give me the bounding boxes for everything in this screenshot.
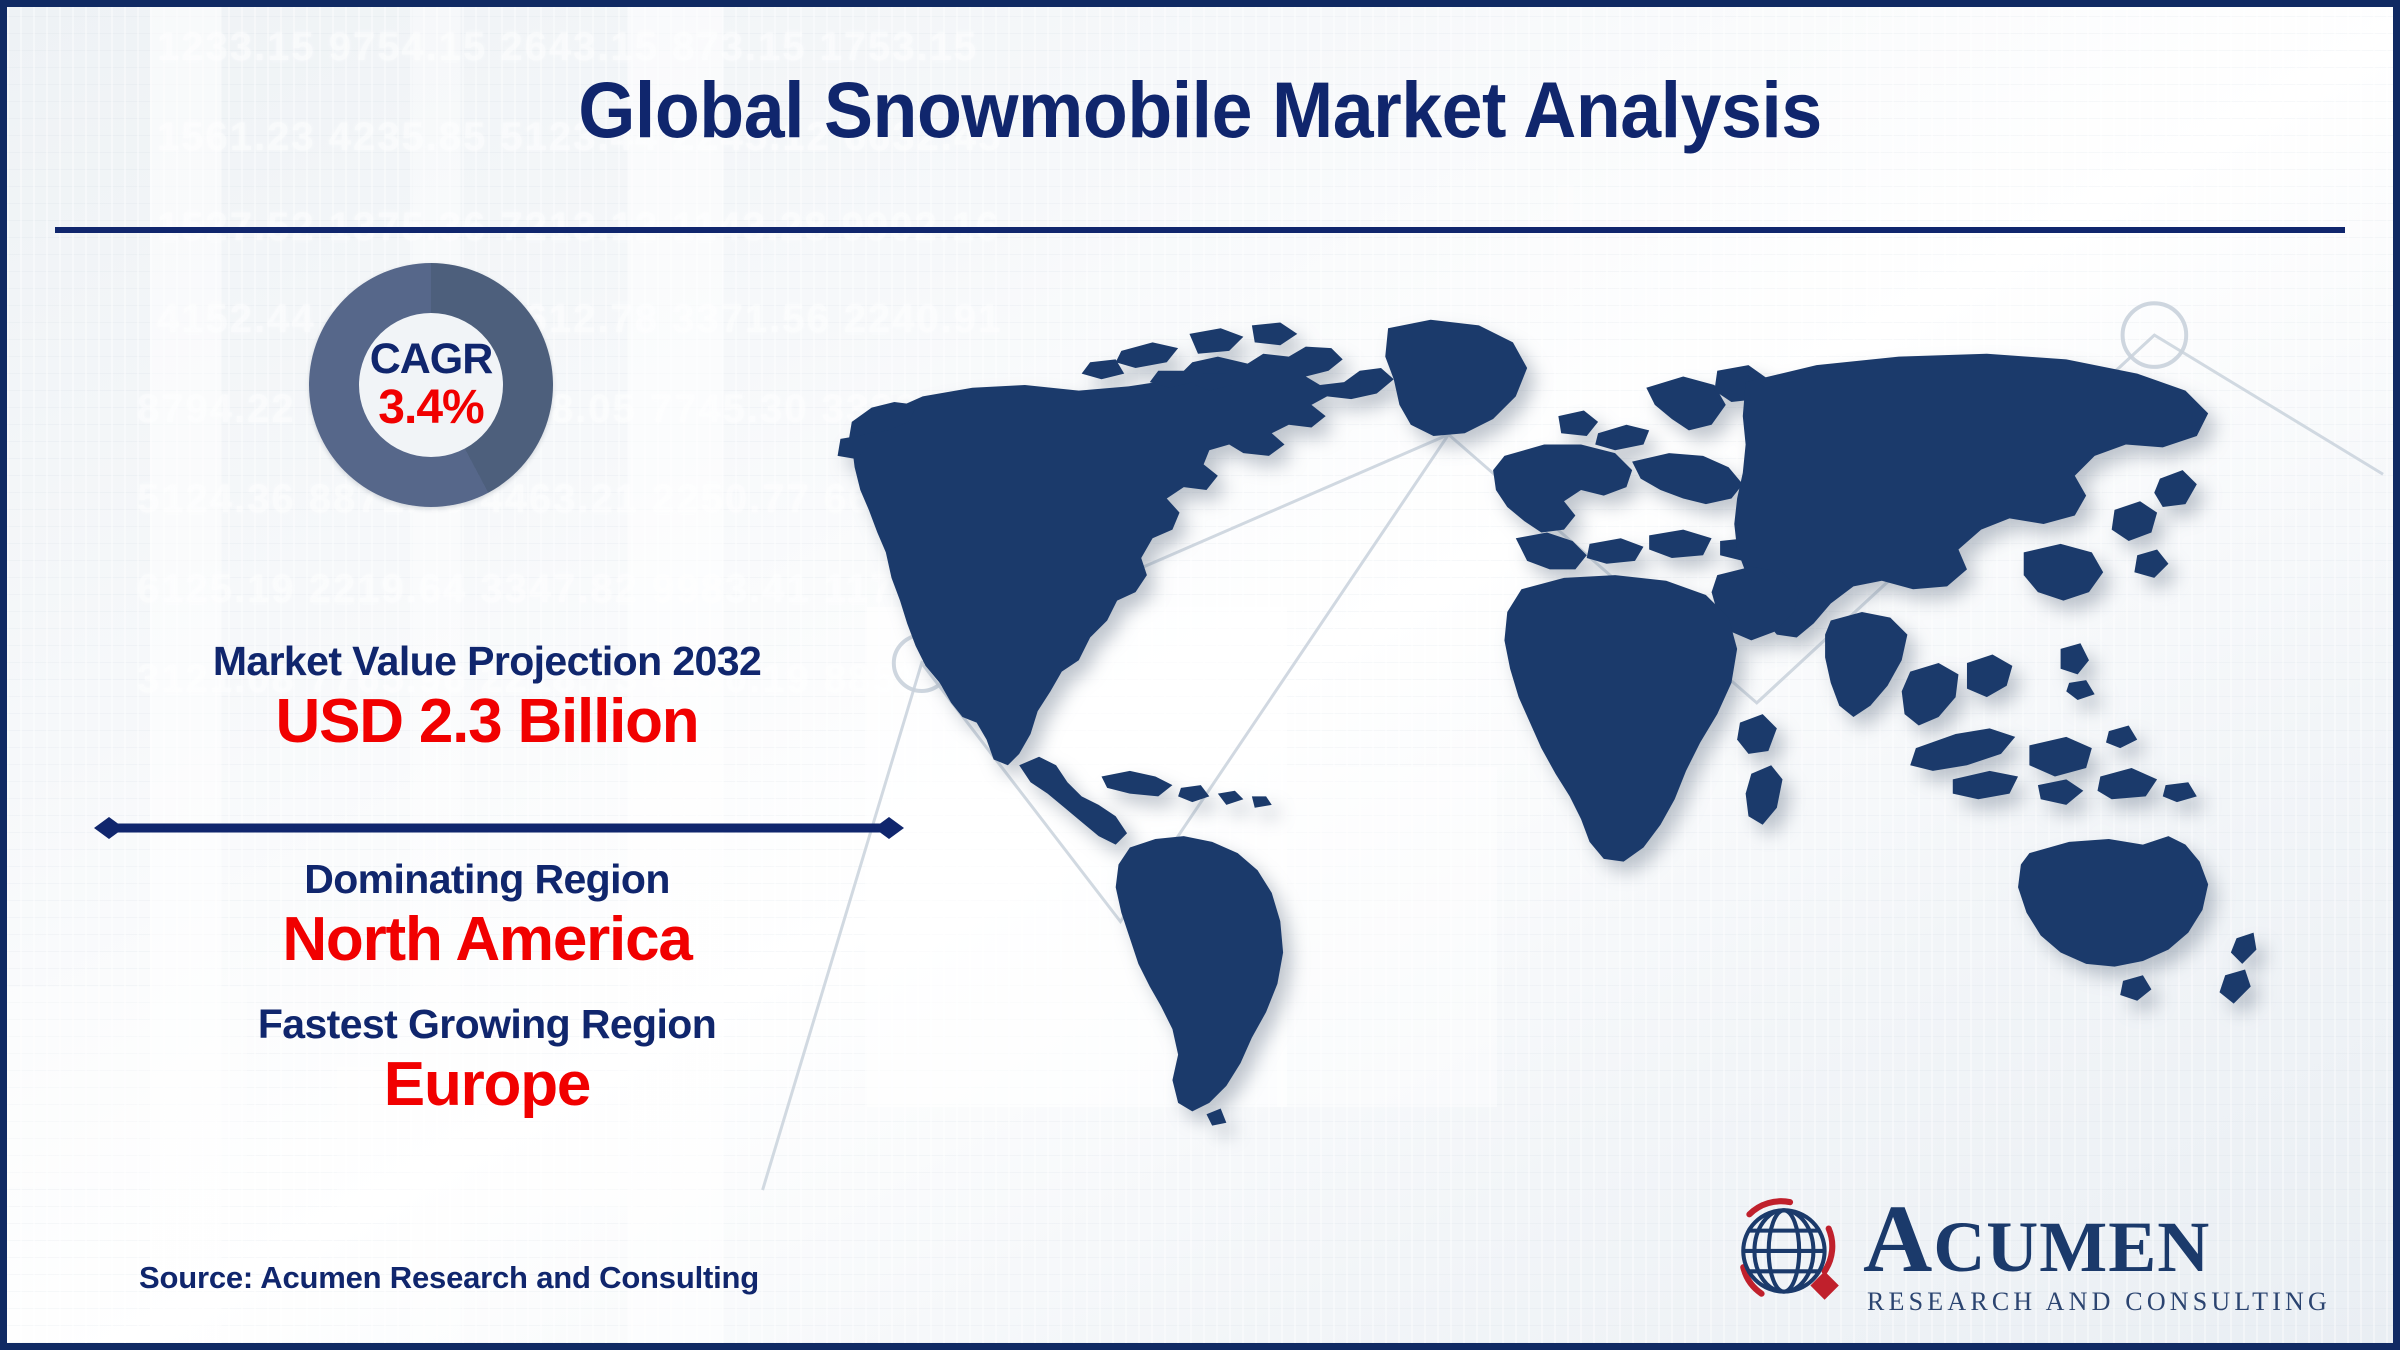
cagr-label: CAGR bbox=[370, 337, 493, 382]
stat-label: Dominating Region bbox=[7, 855, 967, 903]
section-divider bbox=[93, 817, 905, 839]
logo-wordmark: ACUMEN RESEARCH AND CONSULTING bbox=[1863, 1191, 2331, 1315]
cagr-donut-chart: CAGR 3.4% bbox=[309, 263, 553, 507]
world-map-svg bbox=[837, 297, 2257, 1127]
stat-value: USD 2.3 Billion bbox=[7, 685, 967, 758]
stat-dominating-region: Dominating Region North America bbox=[7, 855, 967, 977]
company-logo: ACUMEN RESEARCH AND CONSULTING bbox=[1727, 1191, 2331, 1315]
continents bbox=[838, 320, 2257, 1126]
logo-name-rest: CUMEN bbox=[1933, 1207, 2210, 1287]
logo-tagline: RESEARCH AND CONSULTING bbox=[1863, 1289, 2331, 1315]
page-title: Global Snowmobile Market Analysis bbox=[91, 69, 2310, 152]
logo-initial: A bbox=[1863, 1185, 1933, 1292]
world-map bbox=[837, 297, 2257, 1127]
donut-center-text: CAGR 3.4% bbox=[309, 263, 553, 507]
stat-value: North America bbox=[7, 903, 967, 976]
cagr-value: 3.4% bbox=[378, 383, 483, 433]
stat-market-value: Market Value Projection 2032 USD 2.3 Bil… bbox=[7, 637, 967, 759]
stat-value: Europe bbox=[7, 1048, 967, 1121]
acumen-globe-icon bbox=[1727, 1192, 1849, 1314]
stat-label: Fastest Growing Region bbox=[7, 1000, 967, 1048]
stat-fastest-growing-region: Fastest Growing Region Europe bbox=[7, 1000, 967, 1122]
logo-name: ACUMEN bbox=[1863, 1191, 2331, 1287]
stat-label: Market Value Projection 2032 bbox=[7, 637, 967, 685]
source-text: Source: Acumen Research and Consulting bbox=[139, 1260, 759, 1296]
title-divider-rule bbox=[55, 227, 2345, 233]
stats-block: Market Value Projection 2032 USD 2.3 Bil… bbox=[7, 637, 967, 1122]
ticker-row: 1233.15 9754.15 2643.15 873.15 1753.15 bbox=[157, 25, 978, 70]
infographic-canvas: 1233.15 9754.15 2643.15 873.15 1753.15 1… bbox=[0, 0, 2400, 1350]
